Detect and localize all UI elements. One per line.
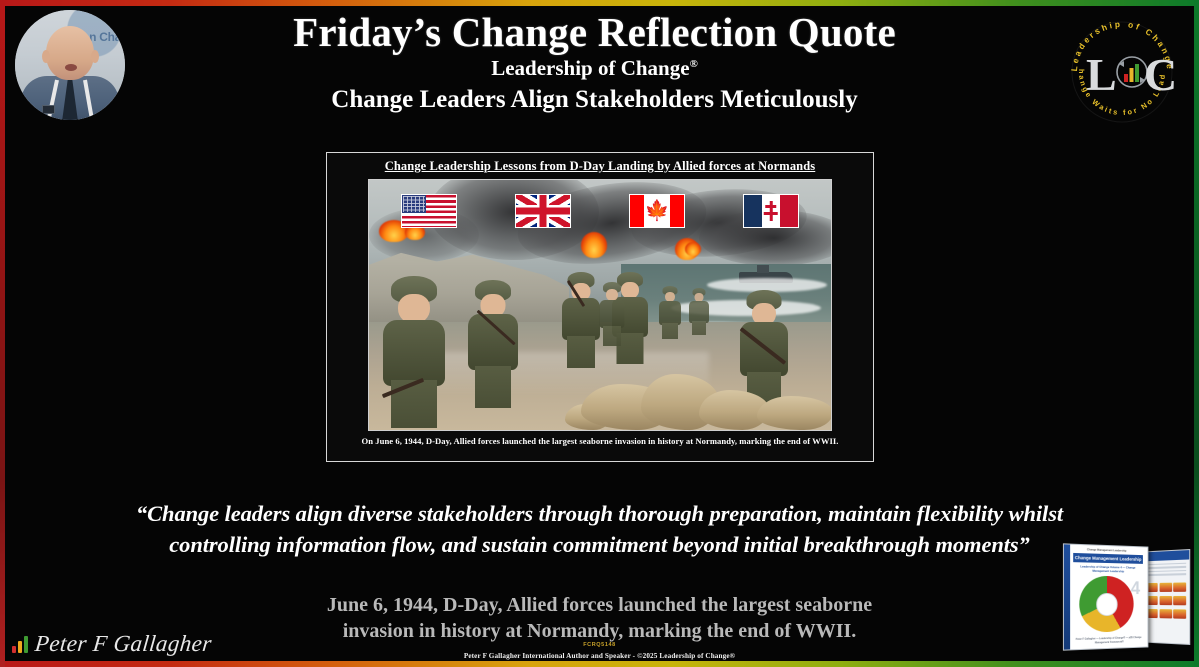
note-line-1: June 6, 1944, D-Day, Allied forces launc…	[180, 592, 1019, 618]
svg-text:C: C	[1144, 49, 1177, 100]
page-title: Friday’s Change Reflection Quote	[135, 10, 1054, 54]
soldier	[379, 276, 449, 426]
historical-note: June 6, 1944, D-Day, Allied forces launc…	[180, 592, 1019, 645]
slide-root: n Cha Friday’s Change Reflection Quote L…	[0, 0, 1199, 667]
allied-flags: 🍁	[369, 194, 831, 228]
avatar-ear-right	[91, 50, 99, 63]
registered-mark: ®	[690, 58, 698, 70]
avatar-banner-text: n Cha	[89, 30, 121, 44]
frame-border-left	[0, 0, 5, 667]
brand-subtitle-text: Leadership of Change	[491, 56, 689, 80]
note-line-2: invasion in history at Normandy, marking…	[180, 618, 1019, 644]
soldier	[687, 288, 711, 334]
image-caption: On June 6, 1944, D-Day, Allied forces la…	[335, 436, 865, 446]
book-spine	[1064, 544, 1070, 649]
book-donut-chart	[1079, 576, 1133, 633]
avatar-head	[46, 26, 94, 80]
avatar: n Cha	[15, 10, 125, 120]
avatar-mouth	[65, 64, 77, 71]
quote-line-1: “Change leaders align diverse stakeholde…	[100, 498, 1099, 529]
leadership-of-change-logo[interactable]: Leadership of Change Change Waits for No…	[1064, 14, 1180, 130]
book-subtitle: Leadership of Change Volume 4 — Change M…	[1064, 564, 1148, 576]
title-block: Friday’s Change Reflection Quote Leaders…	[135, 10, 1054, 114]
soldier	[465, 280, 521, 408]
fire	[581, 232, 607, 258]
flag-united-kingdom-icon	[515, 194, 571, 228]
beach-rock	[757, 396, 832, 430]
avatar-ear-left	[42, 50, 50, 63]
frame-border-top	[0, 0, 1199, 6]
dday-photo: 🍁	[368, 179, 832, 431]
tagline: Change Leaders Align Stakeholders Meticu…	[135, 86, 1054, 114]
brand-subtitle: Leadership of Change®	[135, 57, 1054, 80]
frame-border-right	[1194, 0, 1199, 667]
soldier	[597, 282, 627, 344]
frame-border-bottom	[0, 661, 1199, 667]
header: n Cha Friday’s Change Reflection Quote L…	[5, 6, 1194, 138]
book-mockup[interactable]: Change Management Leadership Change Mana…	[1059, 545, 1191, 649]
book-front-cover: Change Management Leadership Change Mana…	[1063, 543, 1148, 650]
svg-text:L: L	[1086, 49, 1117, 100]
flag-canada-icon: 🍁	[629, 194, 685, 228]
book-title: Change Management Leadership	[1073, 553, 1143, 564]
image-card: Change Leadership Lessons from D-Day Lan…	[326, 152, 874, 462]
reflection-quote: “Change leaders align diverse stakeholde…	[100, 498, 1099, 560]
flag-free-france-icon	[743, 194, 799, 228]
quote-line-2: controlling information flow, and sustai…	[100, 529, 1099, 560]
reference-code: FCRQ5148	[0, 642, 1199, 648]
soldier	[657, 286, 683, 338]
avatar-badge	[42, 105, 55, 114]
copyright-line: Peter F Gallagher International Author a…	[0, 652, 1199, 660]
flag-united-states-icon	[401, 194, 457, 228]
image-card-title: Change Leadership Lessons from D-Day Lan…	[335, 159, 865, 177]
fire	[685, 242, 701, 256]
